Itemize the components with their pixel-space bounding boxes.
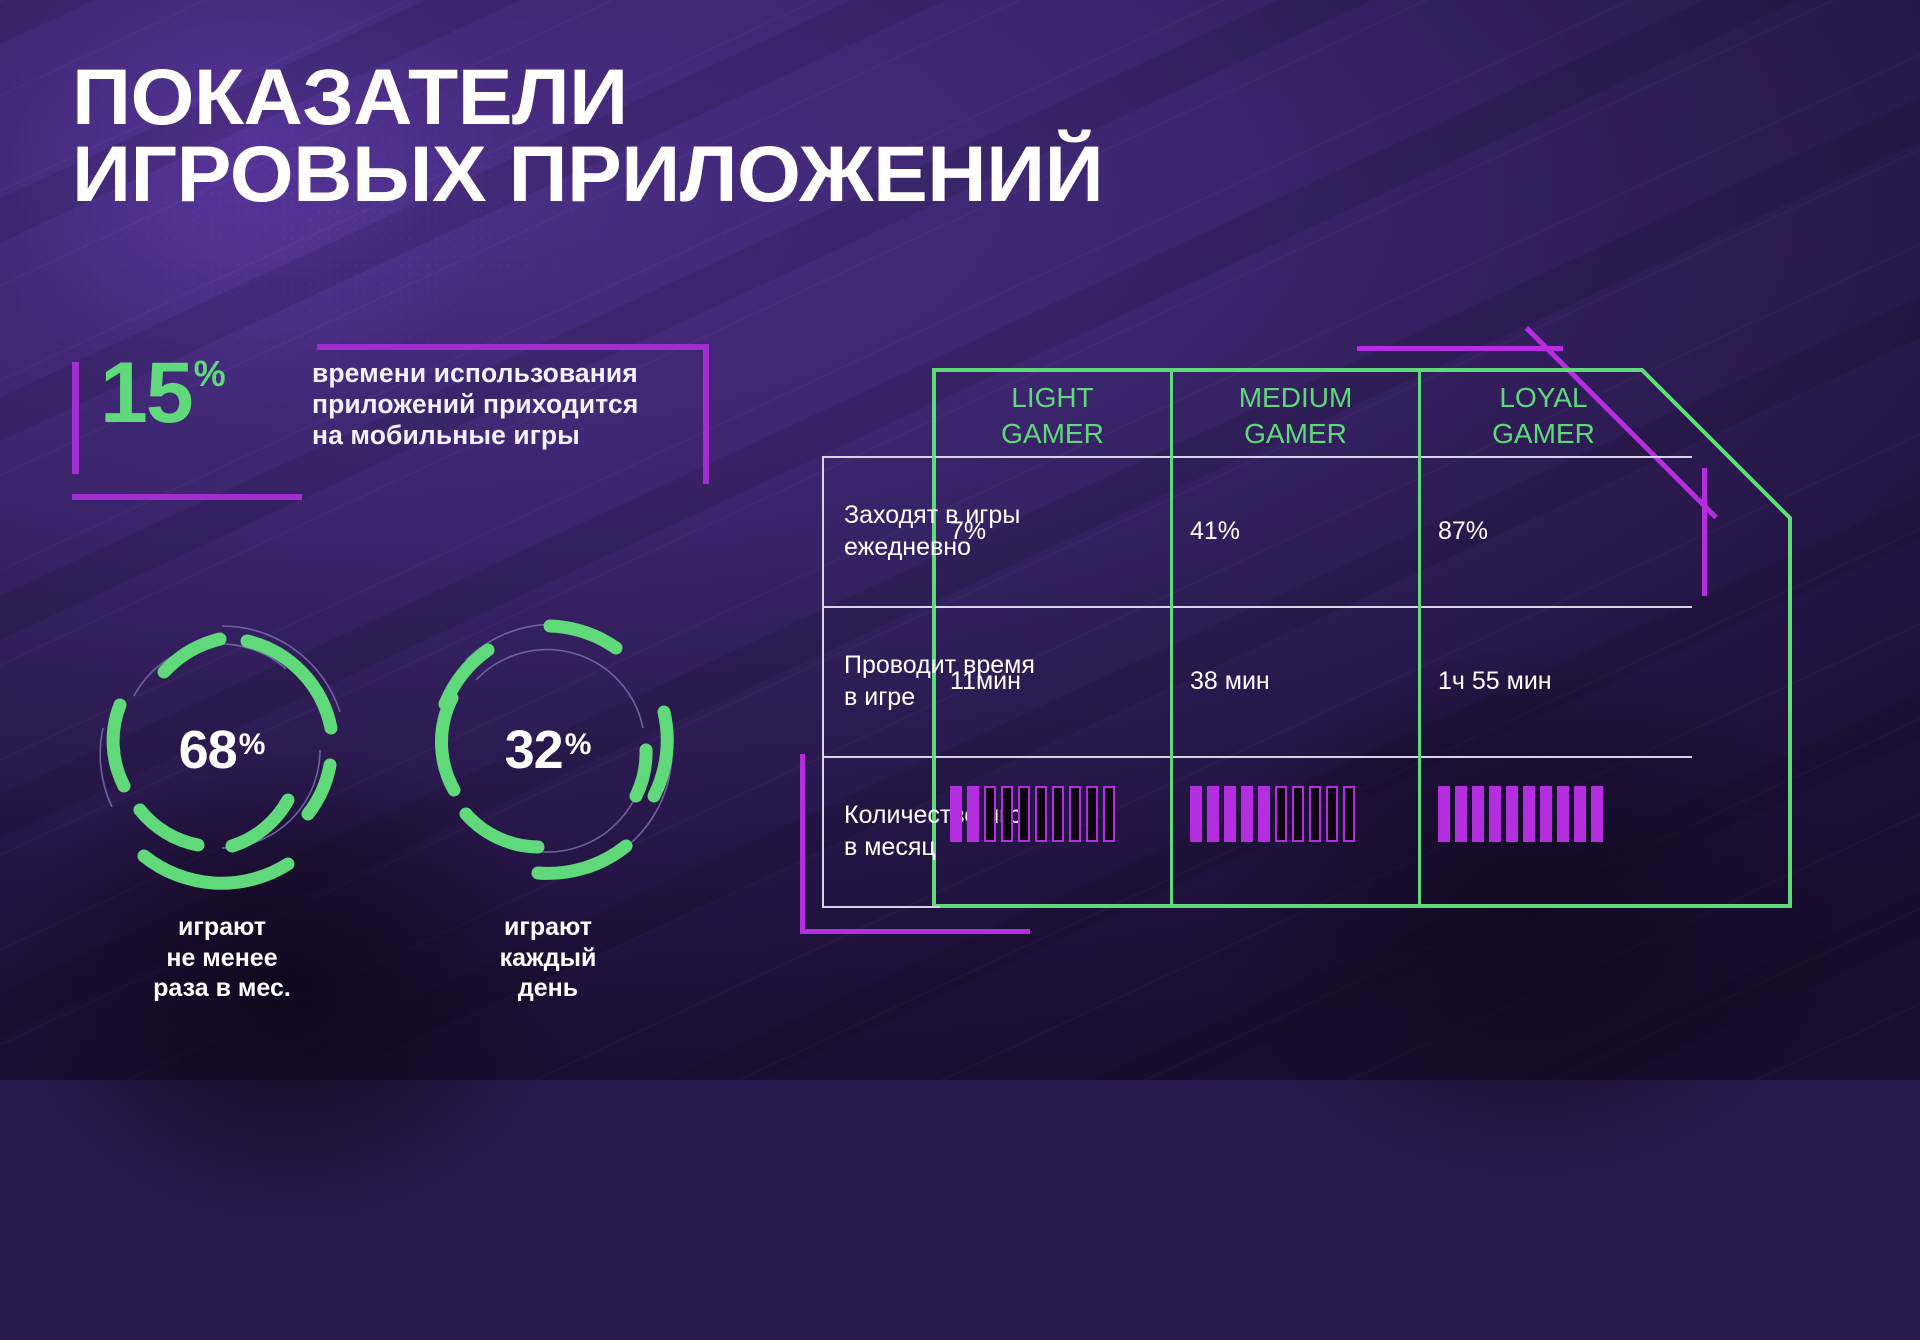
stat-percent-symbol: % [194, 356, 226, 392]
table-bars-medium [1190, 786, 1355, 842]
donut-68-caption: играют не менее раза в мес. [32, 912, 412, 1004]
donut-68-percent-symbol: % [239, 728, 266, 762]
bar-empty [1018, 786, 1030, 842]
bar-filled [1438, 786, 1450, 842]
bar-filled [1472, 786, 1484, 842]
page-title-line-1: ПОКАЗАТЕЛИ [72, 52, 628, 141]
donut-32-caption: играют каждый день [358, 912, 738, 1004]
bar-empty [1001, 786, 1013, 842]
stat-accent-bottom [72, 494, 302, 500]
table-cell-time-medium: 38 мин [1190, 606, 1390, 756]
bar-filled [1506, 786, 1518, 842]
table-header-medium-gamer: MEDIUM GAMER [1173, 376, 1418, 456]
bar-filled [950, 786, 962, 842]
bar-filled [1241, 786, 1253, 842]
bar-filled [1523, 786, 1535, 842]
bar-filled [967, 786, 979, 842]
donut-chart-68: 68 % играют не менее раза в мес. [72, 600, 372, 900]
bar-empty [1069, 786, 1081, 842]
bar-empty [1052, 786, 1064, 842]
page-title-line-2: ИГРОВЫХ ПРИЛОЖЕНИЙ [72, 135, 1103, 212]
bar-filled [1258, 786, 1270, 842]
bar-empty [1103, 786, 1115, 842]
bar-empty [1275, 786, 1287, 842]
bar-empty [1035, 786, 1047, 842]
table-accent-top [1357, 346, 1563, 351]
table-cell-time-loyal: 1ч 55 мин [1438, 606, 1638, 756]
donut-32-value-group: 32 % [398, 600, 698, 900]
bar-filled [1591, 786, 1603, 842]
donut-68-value-group: 68 % [72, 600, 372, 900]
bar-filled [1574, 786, 1586, 842]
bar-filled [1207, 786, 1219, 842]
stat-accent-top [317, 344, 709, 350]
table-cell-daily-loyal: 87% [1438, 456, 1638, 606]
table-accent-left [800, 754, 805, 934]
bar-empty [984, 786, 996, 842]
donut-32-percent-symbol: % [565, 728, 592, 762]
donut-chart-32: 32 % играют каждый день [398, 600, 698, 900]
donut-68-value: 68 [179, 719, 237, 781]
bar-filled [1557, 786, 1569, 842]
table-cell-daily-light: 7% [950, 456, 1150, 606]
gamer-segments-table: LIGHT GAMER MEDIUM GAMER LOYAL GAMER Зах… [822, 368, 1842, 948]
bar-empty [1326, 786, 1338, 842]
bar-filled [1455, 786, 1467, 842]
bar-filled [1489, 786, 1501, 842]
bar-empty [1343, 786, 1355, 842]
grid-bottom [822, 906, 940, 908]
highlight-stat-block: 15 % времени использования приложений пр… [72, 352, 652, 492]
bar-filled [1540, 786, 1552, 842]
donut-32-value: 32 [505, 719, 563, 781]
table-header-light-gamer: LIGHT GAMER [935, 376, 1170, 456]
stat-accent-left [72, 362, 79, 474]
bar-filled [1190, 786, 1202, 842]
page-title: ПОКАЗАТЕЛИ ИГРОВЫХ ПРИЛОЖЕНИЙ [72, 58, 1103, 213]
table-accent-bottom [800, 929, 1030, 934]
table-cell-daily-medium: 41% [1190, 456, 1390, 606]
bar-empty [1292, 786, 1304, 842]
bar-empty [1086, 786, 1098, 842]
table-bars-light [950, 786, 1115, 842]
stat-description: времени использования приложений приходи… [312, 358, 638, 451]
stat-value-group: 15 % [100, 350, 226, 436]
stat-accent-right [703, 344, 709, 484]
grid-left-vertical [822, 456, 824, 908]
bar-filled [1224, 786, 1236, 842]
table-header-loyal-gamer: LOYAL GAMER [1421, 376, 1666, 456]
bar-empty [1309, 786, 1321, 842]
stat-value: 15 [100, 350, 192, 436]
table-bars-loyal [1438, 786, 1603, 842]
table-cell-time-light: 11мин [950, 606, 1150, 756]
